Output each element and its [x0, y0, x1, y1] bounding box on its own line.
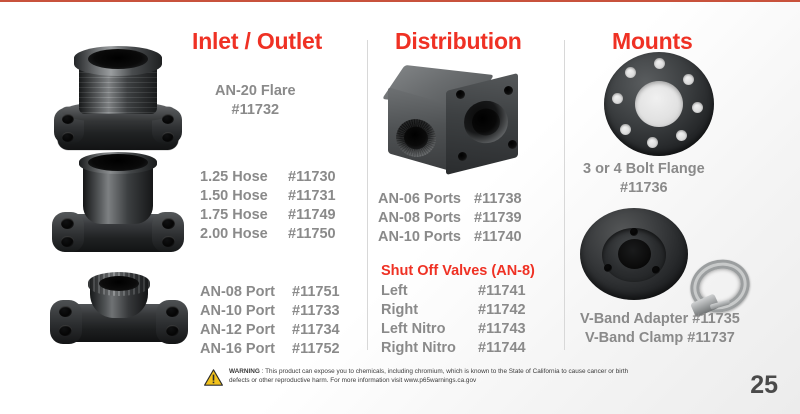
flange-name: 3 or 4 Bolt Flange — [583, 161, 705, 177]
page-number: 25 — [750, 371, 778, 400]
dist-port-part: #11740 — [474, 228, 522, 247]
an20-flare-name: AN-20 Flare — [215, 83, 296, 99]
bolt-hole — [59, 325, 72, 336]
valve-part: #11744 — [478, 339, 526, 358]
port-label: AN-10 Port — [200, 302, 292, 321]
bolt-hole — [620, 124, 631, 135]
list-item: AN-08 Port #11751 — [200, 283, 340, 302]
heading-distribution: Distribution — [395, 28, 522, 55]
heading-mounts: Mounts — [612, 28, 693, 55]
hose-part: #11750 — [288, 225, 336, 244]
column-divider-1 — [367, 40, 368, 350]
list-item: 1.25 Hose #11730 — [200, 168, 336, 187]
flange-part: #11736 — [583, 179, 705, 198]
list-item: AN-06 Ports #11738 — [378, 190, 522, 209]
list-item: Right Nitro #11744 — [381, 339, 526, 358]
bolt-hole — [683, 74, 694, 85]
bolt-hole — [647, 137, 658, 148]
bolt-hole — [62, 132, 74, 142]
hose-part: #11731 — [288, 187, 336, 206]
caption-an20-flare: AN-20 Flare #11732 — [215, 82, 296, 120]
list-item: 1.50 Hose #11731 — [200, 187, 336, 206]
bolt-hole — [162, 132, 174, 142]
list-item: AN-12 Port #11734 — [200, 321, 340, 340]
adapter-bore — [618, 239, 651, 269]
flange-center-bore — [635, 81, 683, 127]
caption-bolt-flange: 3 or 4 Bolt Flange #11736 — [583, 160, 705, 198]
list-item: AN-10 Ports #11740 — [378, 228, 522, 247]
bolt-hole — [630, 228, 638, 236]
warning-label: WARNING — [229, 368, 260, 375]
bolt-hole — [625, 67, 636, 78]
hose-label: 1.50 Hose — [200, 187, 288, 206]
warning-triangle-icon — [204, 369, 223, 386]
valve-label: Right Nitro — [381, 339, 478, 358]
port-label: AN-16 Port — [200, 340, 292, 359]
port-part: #11734 — [292, 321, 340, 340]
valve-part: #11741 — [478, 282, 526, 301]
shut-off-valve-list: Left #11741 Right #11742 Left Nitro #117… — [381, 282, 526, 358]
dist-port-part: #11738 — [474, 190, 522, 209]
bolt-hole — [166, 306, 179, 317]
dist-port-label: AN-08 Ports — [378, 209, 474, 228]
heading-shut-off-valves: Shut Off Valves (AN-8) — [381, 263, 535, 279]
dist-port-part: #11739 — [474, 209, 522, 228]
fitting-bore — [99, 276, 139, 291]
hose-part: #11730 — [288, 168, 336, 187]
bolt-hole — [504, 86, 513, 95]
bolt-hole — [62, 114, 74, 124]
product-image-distribution-block — [382, 66, 532, 178]
vband-adapter-caption: V-Band Adapter #11735 — [580, 311, 740, 327]
list-item: AN-10 Port #11733 — [200, 302, 340, 321]
bolt-hole — [692, 102, 703, 113]
top-accent-rule — [0, 0, 800, 2]
port-part: #11733 — [292, 302, 340, 321]
product-image-bolt-flange — [604, 52, 714, 158]
column-divider-2 — [564, 40, 565, 350]
caption-vband: V-Band Adapter #11735 V-Band Clamp #1173… — [580, 310, 740, 348]
valve-part: #11743 — [478, 320, 526, 339]
product-image-vband-adapter — [580, 208, 692, 304]
bolt-hole — [162, 114, 174, 124]
bolt-hole — [612, 93, 623, 104]
catalog-page: Inlet / Outlet Distribution Mounts AN-20… — [0, 0, 800, 414]
bolt-hole — [458, 152, 467, 161]
warning-text: WARNING : This product can expose you to… — [229, 368, 644, 385]
distribution-port-list: AN-06 Ports #11738 AN-08 Ports #11739 AN… — [378, 190, 522, 247]
bolt-hole — [508, 140, 517, 149]
bolt-hole — [456, 90, 465, 99]
port-label: AN-12 Port — [200, 321, 292, 340]
hose-label: 2.00 Hose — [200, 225, 288, 244]
hose-label: 1.25 Hose — [200, 168, 288, 187]
an20-flare-part: #11732 — [215, 101, 296, 120]
list-item: AN-08 Ports #11739 — [378, 209, 522, 228]
hose-label: 1.75 Hose — [200, 206, 288, 225]
list-item: Left Nitro #11743 — [381, 320, 526, 339]
bolt-hole — [166, 325, 179, 336]
valve-label: Right — [381, 301, 478, 320]
fitting-bore — [88, 49, 148, 69]
valve-label: Left Nitro — [381, 320, 478, 339]
hose-part-list: 1.25 Hose #11730 1.50 Hose #11731 1.75 H… — [200, 168, 336, 244]
list-item: Right #11742 — [381, 301, 526, 320]
heading-inlet-outlet: Inlet / Outlet — [192, 28, 322, 55]
bolt-hole — [61, 218, 74, 229]
bolt-hole — [652, 266, 660, 274]
product-image-port-fitting — [48, 266, 190, 358]
bolt-hole — [654, 58, 665, 69]
vband-clamp-caption: V-Band Clamp #11737 — [580, 329, 740, 348]
warning-line-1: This product can expose you to chemicals… — [265, 368, 567, 375]
dist-port-label: AN-06 Ports — [378, 190, 474, 209]
port-part: #11752 — [292, 340, 340, 359]
hose-part: #11749 — [288, 206, 336, 225]
valve-part: #11742 — [478, 301, 526, 320]
port-label: AN-08 Port — [200, 283, 292, 302]
bolt-hole — [162, 236, 175, 247]
bolt-hole — [604, 264, 612, 272]
port-part: #11751 — [292, 283, 340, 302]
list-item: 2.00 Hose #11750 — [200, 225, 336, 244]
bolt-hole — [676, 130, 687, 141]
list-item: 1.75 Hose #11749 — [200, 206, 336, 225]
dist-port-label: AN-10 Ports — [378, 228, 474, 247]
prop65-warning: WARNING : This product can expose you to… — [204, 368, 644, 386]
port-part-list: AN-08 Port #11751 AN-10 Port #11733 AN-1… — [200, 283, 340, 359]
bolt-hole — [59, 306, 72, 317]
bolt-hole — [61, 236, 74, 247]
bolt-hole — [162, 218, 175, 229]
fitting-bore — [88, 154, 148, 171]
product-image-an20-flare-fitting — [52, 44, 184, 156]
list-item: AN-16 Port #11752 — [200, 340, 340, 359]
list-item: Left #11741 — [381, 282, 526, 301]
valve-label: Left — [381, 282, 478, 301]
product-image-hose-fitting — [52, 150, 184, 258]
